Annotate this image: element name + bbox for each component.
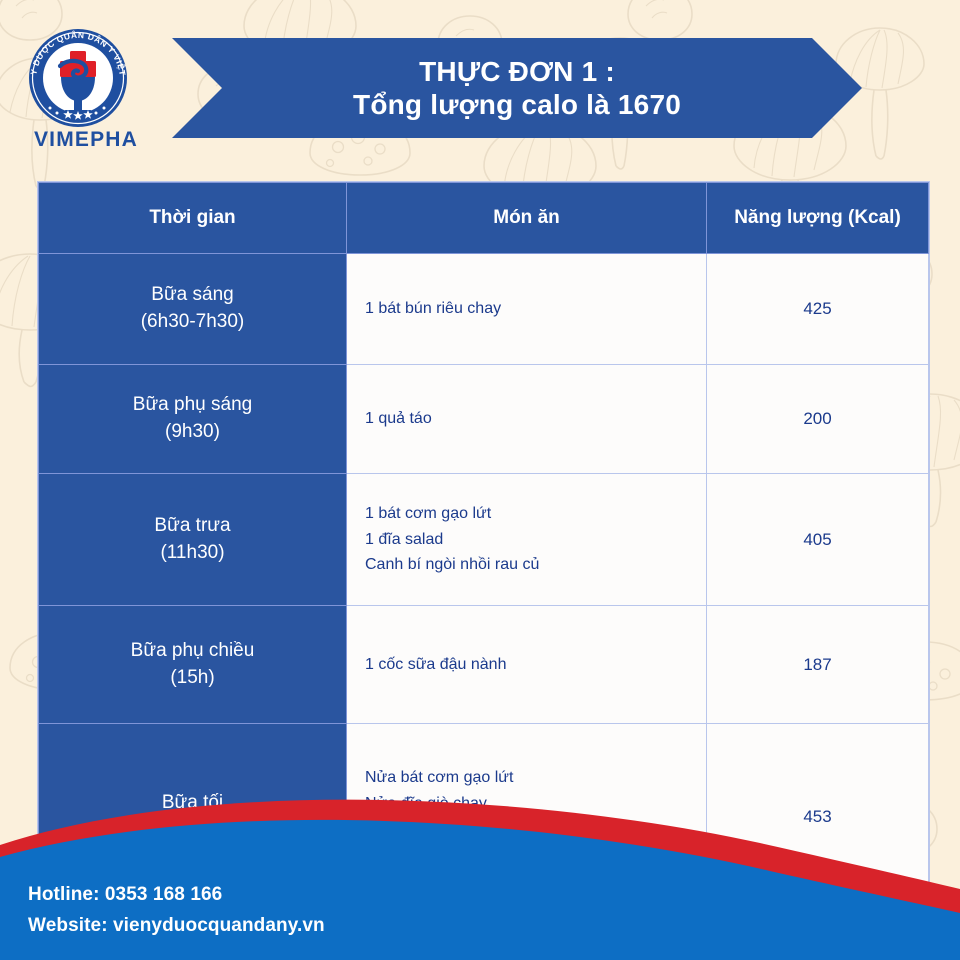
- meal-time-cell: Bữa phụ chiều (15h): [39, 606, 347, 724]
- meal-clock: (9h30): [45, 419, 340, 446]
- meal-name: Bữa phụ chiều: [45, 638, 340, 665]
- meal-name: Bữa sáng: [45, 282, 340, 309]
- meal-dishes-cell: 1 bát cơm gạo lứt 1 đĩa salad Canh bí ng…: [347, 474, 707, 606]
- meal-kcal-cell: 200: [707, 365, 929, 474]
- logo-wordmark: VIMEPHA: [16, 128, 156, 152]
- table-header-row: Thời gian Món ăn Năng lượng (Kcal): [39, 183, 929, 254]
- table-row: Bữa sáng (6h30-7h30) 1 bát bún riêu chay…: [39, 254, 929, 365]
- banner-title-line-2: Tổng lượng calo là 1670: [353, 88, 681, 121]
- meal-name: Bữa phụ sáng: [45, 392, 340, 419]
- meal-name: Bữa trưa: [45, 513, 340, 540]
- table-row: Bữa trưa (11h30) 1 bát cơm gạo lứt 1 đĩa…: [39, 474, 929, 606]
- meal-dishes-cell: 1 bát bún riêu chay: [347, 254, 707, 365]
- dish-item: 1 quả táo: [365, 406, 706, 432]
- meal-kcal-cell: 405: [707, 474, 929, 606]
- dish-item: Canh bí ngòi nhồi rau củ: [365, 552, 706, 578]
- column-header-energy: Năng lượng (Kcal): [707, 183, 929, 254]
- dish-item: 1 đĩa salad: [365, 527, 706, 553]
- meal-kcal-cell: 187: [707, 606, 929, 724]
- table-row: Bữa phụ chiều (15h) 1 cốc sữa đậu nành 1…: [39, 606, 929, 724]
- meal-kcal-cell: 425: [707, 254, 929, 365]
- meal-time-cell: Bữa trưa (11h30): [39, 474, 347, 606]
- meal-clock: (6h30-7h30): [45, 309, 340, 336]
- meal-time-cell: Bữa sáng (6h30-7h30): [39, 254, 347, 365]
- table-row: Bữa phụ sáng (9h30) 1 quả táo 200: [39, 365, 929, 474]
- meal-dishes-cell: 1 cốc sữa đậu nành: [347, 606, 707, 724]
- footer-contact: Hotline: 0353 168 166 Website: vienyduoc…: [28, 880, 325, 942]
- dish-item: 1 cốc sữa đậu nành: [365, 652, 706, 678]
- meal-dishes-cell: 1 quả táo: [347, 365, 707, 474]
- dish-item: 1 bát cơm gạo lứt: [365, 501, 706, 527]
- dish-item: 1 bát bún riêu chay: [365, 296, 706, 322]
- poster-canvas: VIỆN Y DƯỢC QUÂN DÂN Y VIỆT NAM VIMEPHA: [0, 0, 960, 960]
- column-header-dish: Món ăn: [347, 183, 707, 254]
- banner-title-line-1: THỰC ĐƠN 1 :: [419, 55, 615, 88]
- title-banner: THỰC ĐƠN 1 : Tổng lượng calo là 1670: [172, 38, 862, 138]
- footer-website: Website: vienyduocquandany.vn: [28, 911, 325, 942]
- column-header-time: Thời gian: [39, 183, 347, 254]
- brand-logo: VIỆN Y DƯỢC QUÂN DÂN Y VIỆT NAM VIMEPHA: [16, 22, 156, 152]
- meal-time-cell: Bữa phụ sáng (9h30): [39, 365, 347, 474]
- footer-hotline: Hotline: 0353 168 166: [28, 880, 325, 911]
- meal-clock: (11h30): [45, 540, 340, 567]
- vimepha-seal-icon: VIỆN Y DƯỢC QUÂN DÂN Y VIỆT NAM: [16, 22, 140, 130]
- meal-clock: (15h): [45, 665, 340, 692]
